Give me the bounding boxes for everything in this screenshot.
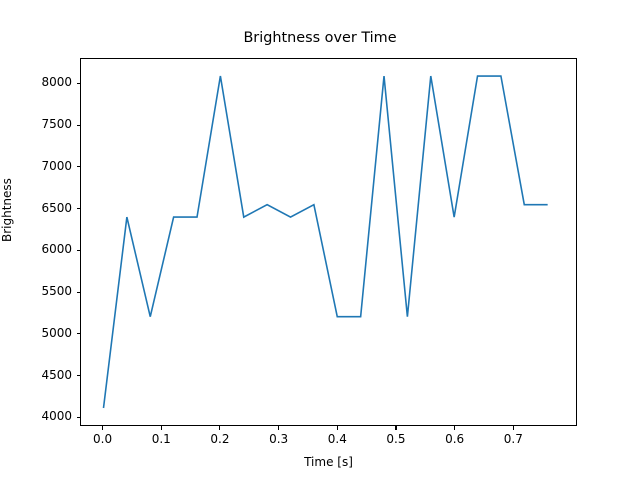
x-tick-mark — [395, 426, 396, 430]
x-tick-mark — [102, 426, 103, 430]
x-tick-label: 0.4 — [307, 432, 367, 446]
x-tick-mark — [513, 426, 514, 430]
x-tick-mark — [337, 426, 338, 430]
y-tick-label: 6000 — [12, 242, 72, 256]
y-tick-label: 8000 — [12, 75, 72, 89]
plot-axes-area — [80, 58, 577, 426]
y-tick-label: 4000 — [12, 409, 72, 423]
y-tick-label: 7500 — [12, 117, 72, 131]
x-tick-label: 0.1 — [131, 432, 191, 446]
brightness-line-series — [103, 76, 547, 408]
x-tick-label: 0.3 — [249, 432, 309, 446]
y-tick-label: 6500 — [12, 201, 72, 215]
x-tick-mark — [454, 426, 455, 430]
y-tick-label: 5000 — [12, 326, 72, 340]
figure-canvas: Brightness over Time Brightness Time [s]… — [0, 0, 640, 480]
y-tick-label: 7000 — [12, 159, 72, 173]
x-tick-mark — [219, 426, 220, 430]
x-axis-label: Time [s] — [80, 455, 577, 469]
x-tick-label: 0.5 — [366, 432, 426, 446]
x-tick-mark — [161, 426, 162, 430]
chart-title: Brightness over Time — [0, 30, 640, 46]
y-tick-label: 4500 — [12, 368, 72, 382]
x-tick-label: 0.6 — [425, 432, 485, 446]
y-tick-label: 5500 — [12, 284, 72, 298]
x-tick-label: 0.2 — [190, 432, 250, 446]
x-tick-mark — [278, 426, 279, 430]
x-tick-label: 0.7 — [483, 432, 543, 446]
x-tick-label: 0.0 — [73, 432, 133, 446]
line-series-svg — [81, 59, 576, 425]
